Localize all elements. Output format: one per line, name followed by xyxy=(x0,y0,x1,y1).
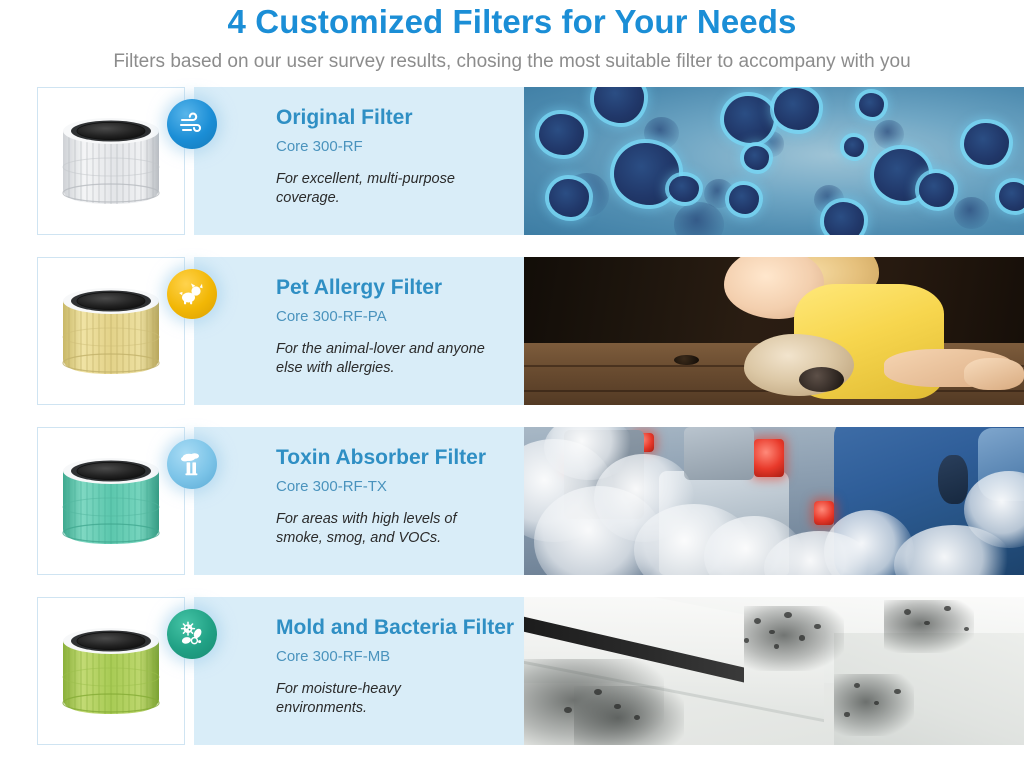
factory-smoke-icon xyxy=(167,439,217,489)
filter-description: For areas with high levels of smoke, smo… xyxy=(276,510,491,548)
child-kissing-dog-photo xyxy=(524,257,1024,405)
filter-comparison-infographic: 4 Customized Filters for Your Needs Filt… xyxy=(0,0,1024,768)
filter-list: Original Filter Core 300-RF For excellen… xyxy=(0,87,1024,745)
traffic-exhaust-smog-photo xyxy=(524,427,1024,575)
pet-icon xyxy=(167,269,217,319)
filter-row[interactable]: Original Filter Core 300-RF For excellen… xyxy=(0,87,1024,235)
filter-model: Core 300-RF-PA xyxy=(276,307,510,327)
filter-product-image xyxy=(49,275,173,387)
filter-name: Mold and Bacteria Filter xyxy=(276,615,510,641)
filter-name: Toxin Absorber Filter xyxy=(276,445,510,471)
filter-row[interactable]: Toxin Absorber Filter Core 300-RF-TX For… xyxy=(0,427,1024,575)
filter-thumbnail-card xyxy=(37,87,185,235)
filter-text-panel: Original Filter Core 300-RF For excellen… xyxy=(194,87,524,235)
filter-model: Core 300-RF-TX xyxy=(276,477,510,497)
filter-description: For moisture-heavy environments. xyxy=(276,680,491,718)
filter-product-image xyxy=(49,105,173,217)
filter-thumbnail-card xyxy=(37,257,185,405)
header: 4 Customized Filters for Your Needs Filt… xyxy=(0,0,1024,75)
filter-product-image xyxy=(49,445,173,557)
filter-model: Core 300-RF-MB xyxy=(276,647,510,667)
filter-text-panel: Mold and Bacteria Filter Core 300-RF-MB … xyxy=(194,597,524,745)
page-subtitle: Filters based on our user survey results… xyxy=(0,49,1024,75)
filter-model: Core 300-RF xyxy=(276,137,510,157)
filter-product-image xyxy=(49,615,173,727)
filter-name: Pet Allergy Filter xyxy=(276,275,510,301)
filter-row[interactable]: Pet Allergy Filter Core 300-RF-PA For th… xyxy=(0,257,1024,405)
filter-text-panel: Toxin Absorber Filter Core 300-RF-TX For… xyxy=(194,427,524,575)
virus-microscopy-photo xyxy=(524,87,1024,235)
filter-name: Original Filter xyxy=(276,105,510,131)
filter-thumbnail-card xyxy=(37,427,185,575)
mold-on-ceiling-photo xyxy=(524,597,1024,745)
bacteria-icon xyxy=(167,609,217,659)
filter-text-panel: Pet Allergy Filter Core 300-RF-PA For th… xyxy=(194,257,524,405)
page-title: 4 Customized Filters for Your Needs xyxy=(0,2,1024,42)
filter-description: For the animal-lover and anyone else wit… xyxy=(276,340,491,378)
wind-icon xyxy=(167,99,217,149)
filter-description: For excellent, multi-purpose coverage. xyxy=(276,170,491,208)
filter-row[interactable]: Mold and Bacteria Filter Core 300-RF-MB … xyxy=(0,597,1024,745)
filter-thumbnail-card xyxy=(37,597,185,745)
